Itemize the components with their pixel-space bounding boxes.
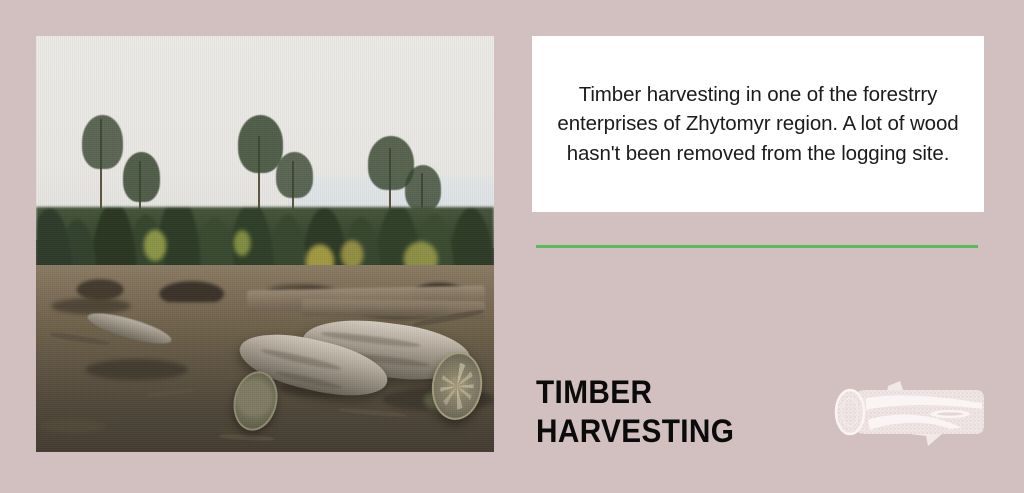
pine-crown	[405, 165, 442, 211]
title-line-2: HARVESTING	[536, 412, 806, 451]
log-icon-svg	[826, 372, 986, 452]
log-cut-end	[836, 390, 864, 434]
poster-canvas: Timber harvesting in one of the forestrr…	[0, 0, 1024, 493]
caption-text: Timber harvesting in one of the forestrr…	[554, 80, 962, 167]
title-line-1: TIMBER	[536, 373, 806, 412]
log-knot-core	[937, 412, 963, 415]
pine-crown	[123, 152, 160, 202]
green-divider	[536, 245, 978, 248]
pine-crown	[238, 115, 284, 173]
log-icon	[826, 372, 986, 452]
pine-crown	[82, 115, 123, 169]
caption-box: Timber harvesting in one of the forestrr…	[532, 36, 984, 212]
page-title: TIMBER HARVESTING	[536, 373, 806, 451]
logging-site-photo	[36, 36, 494, 452]
photo-scene	[36, 36, 494, 452]
pine-crown	[276, 152, 313, 198]
